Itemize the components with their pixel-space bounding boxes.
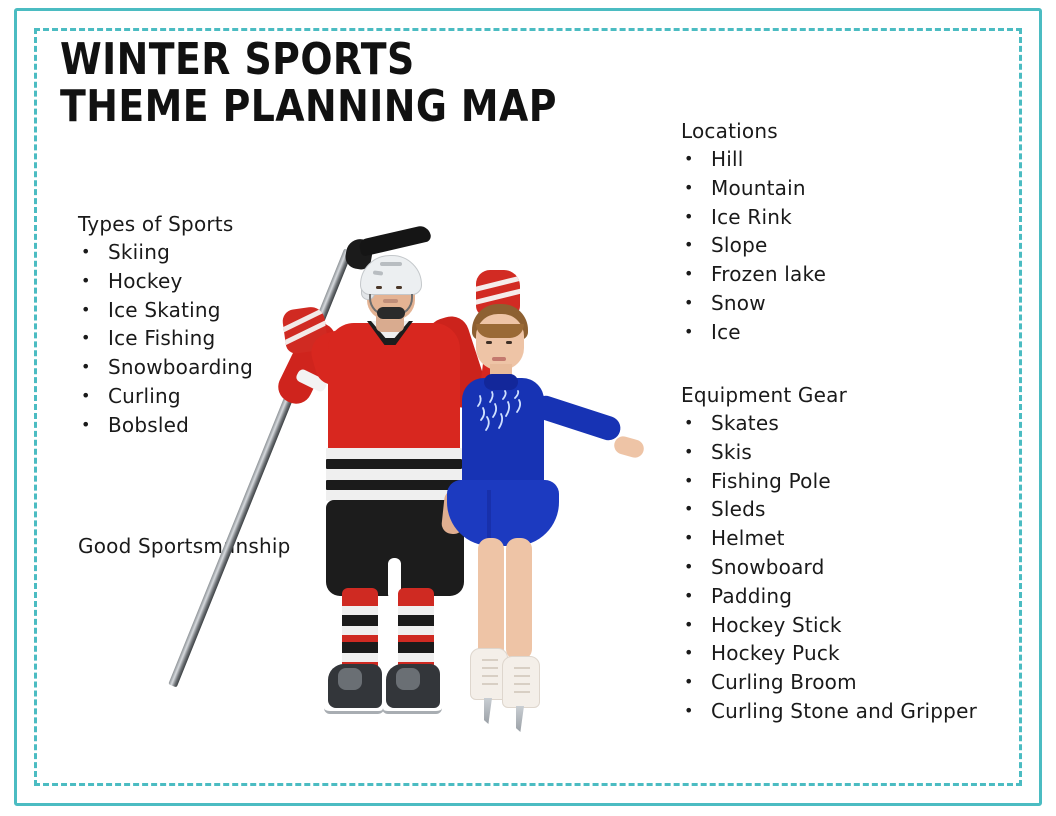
figure-skate-blade	[516, 706, 524, 732]
list-item: Hockey	[78, 267, 253, 296]
hockey-skate-icon	[386, 664, 440, 708]
list-item: Snow	[681, 289, 826, 318]
page-title-line-2: THEME PLANNING MAP	[60, 83, 593, 130]
list-item: Curling Broom	[681, 668, 977, 697]
hockey-player-sock	[342, 588, 378, 672]
list-item: Padding	[681, 582, 977, 611]
list-item: Hockey Stick	[681, 611, 977, 640]
list-item: Frozen lake	[681, 260, 826, 289]
jersey-stripe	[326, 480, 462, 490]
hockey-stick-blade-icon	[358, 224, 432, 257]
equipment-gear-list: Skates Skis Fishing Pole Sleds Helmet Sn…	[681, 409, 977, 726]
winter-sports-athletes-photo	[240, 228, 660, 728]
page-title-line-1: WINTER SPORTS	[60, 36, 593, 83]
figure-skate-blade	[484, 698, 492, 724]
list-item: Mountain	[681, 174, 826, 203]
equipment-gear-section: Equipment Gear Skates Skis Fishing Pole …	[681, 381, 977, 726]
dress-embroidery-icon	[472, 390, 534, 438]
list-item: Skis	[681, 438, 977, 467]
hockey-skate-blade	[324, 704, 384, 714]
list-item: Ice	[681, 318, 826, 347]
figure-skater-mouth	[492, 357, 506, 361]
hockey-player-eye	[376, 286, 382, 289]
page-title: WINTER SPORTS THEME PLANNING MAP	[60, 36, 593, 130]
figure-skater-eye	[506, 341, 512, 344]
hockey-skate-icon	[328, 664, 382, 708]
figure-skater-head	[476, 314, 524, 370]
figure-skater-bangs	[476, 324, 524, 338]
list-item: Hill	[681, 145, 826, 174]
list-item: Skiing	[78, 238, 253, 267]
jersey-stripe	[326, 448, 462, 459]
list-item: Snowboarding	[78, 353, 253, 382]
jersey-stripe	[326, 469, 462, 480]
list-item: Curling Stone and Gripper	[681, 697, 977, 726]
list-item: Snowboard	[681, 553, 977, 582]
types-of-sports-heading: Types of Sports	[78, 210, 253, 238]
locations-heading: Locations	[681, 117, 826, 145]
figure-skater-extended-arm	[530, 393, 623, 444]
locations-list: Hill Mountain Ice Rink Slope Frozen lake…	[681, 145, 826, 347]
jersey-stripe	[326, 459, 462, 469]
figure-skater-leg	[478, 538, 504, 660]
figure-skater-skirt	[447, 480, 559, 546]
figure-skater-skirt-fold	[487, 490, 491, 538]
hockey-player-eye	[396, 286, 402, 289]
list-item: Ice Rink	[681, 203, 826, 232]
list-item: Skates	[681, 409, 977, 438]
figure-skater-eye	[486, 341, 492, 344]
locations-section: Locations Hill Mountain Ice Rink Slope F…	[681, 117, 826, 347]
theme-planning-map-page: WINTER SPORTS THEME PLANNING MAP Types o…	[0, 0, 1056, 816]
list-item: Ice Fishing	[78, 324, 253, 353]
list-item: Sleds	[681, 495, 977, 524]
hockey-skate-blade	[382, 704, 442, 714]
equipment-gear-heading: Equipment Gear	[681, 381, 977, 409]
figure-skate-icon	[502, 656, 540, 708]
types-of-sports-section: Types of Sports Skiing Hockey Ice Skatin…	[78, 210, 253, 440]
hockey-player-sock	[398, 588, 434, 672]
figure-skater-dress-collar	[484, 374, 518, 390]
list-item: Slope	[681, 231, 826, 260]
list-item: Fishing Pole	[681, 467, 977, 496]
list-item: Helmet	[681, 524, 977, 553]
list-item: Hockey Puck	[681, 639, 977, 668]
hockey-helmet-chin-cup	[377, 307, 405, 319]
list-item: Ice Skating	[78, 296, 253, 325]
list-item: Curling	[78, 382, 253, 411]
hockey-helmet-vent	[380, 262, 402, 266]
list-item: Bobsled	[78, 411, 253, 440]
figure-skater-leg	[506, 538, 532, 660]
figure-skater-hand	[612, 434, 646, 460]
types-of-sports-list: Skiing Hockey Ice Skating Ice Fishing Sn…	[78, 238, 253, 440]
